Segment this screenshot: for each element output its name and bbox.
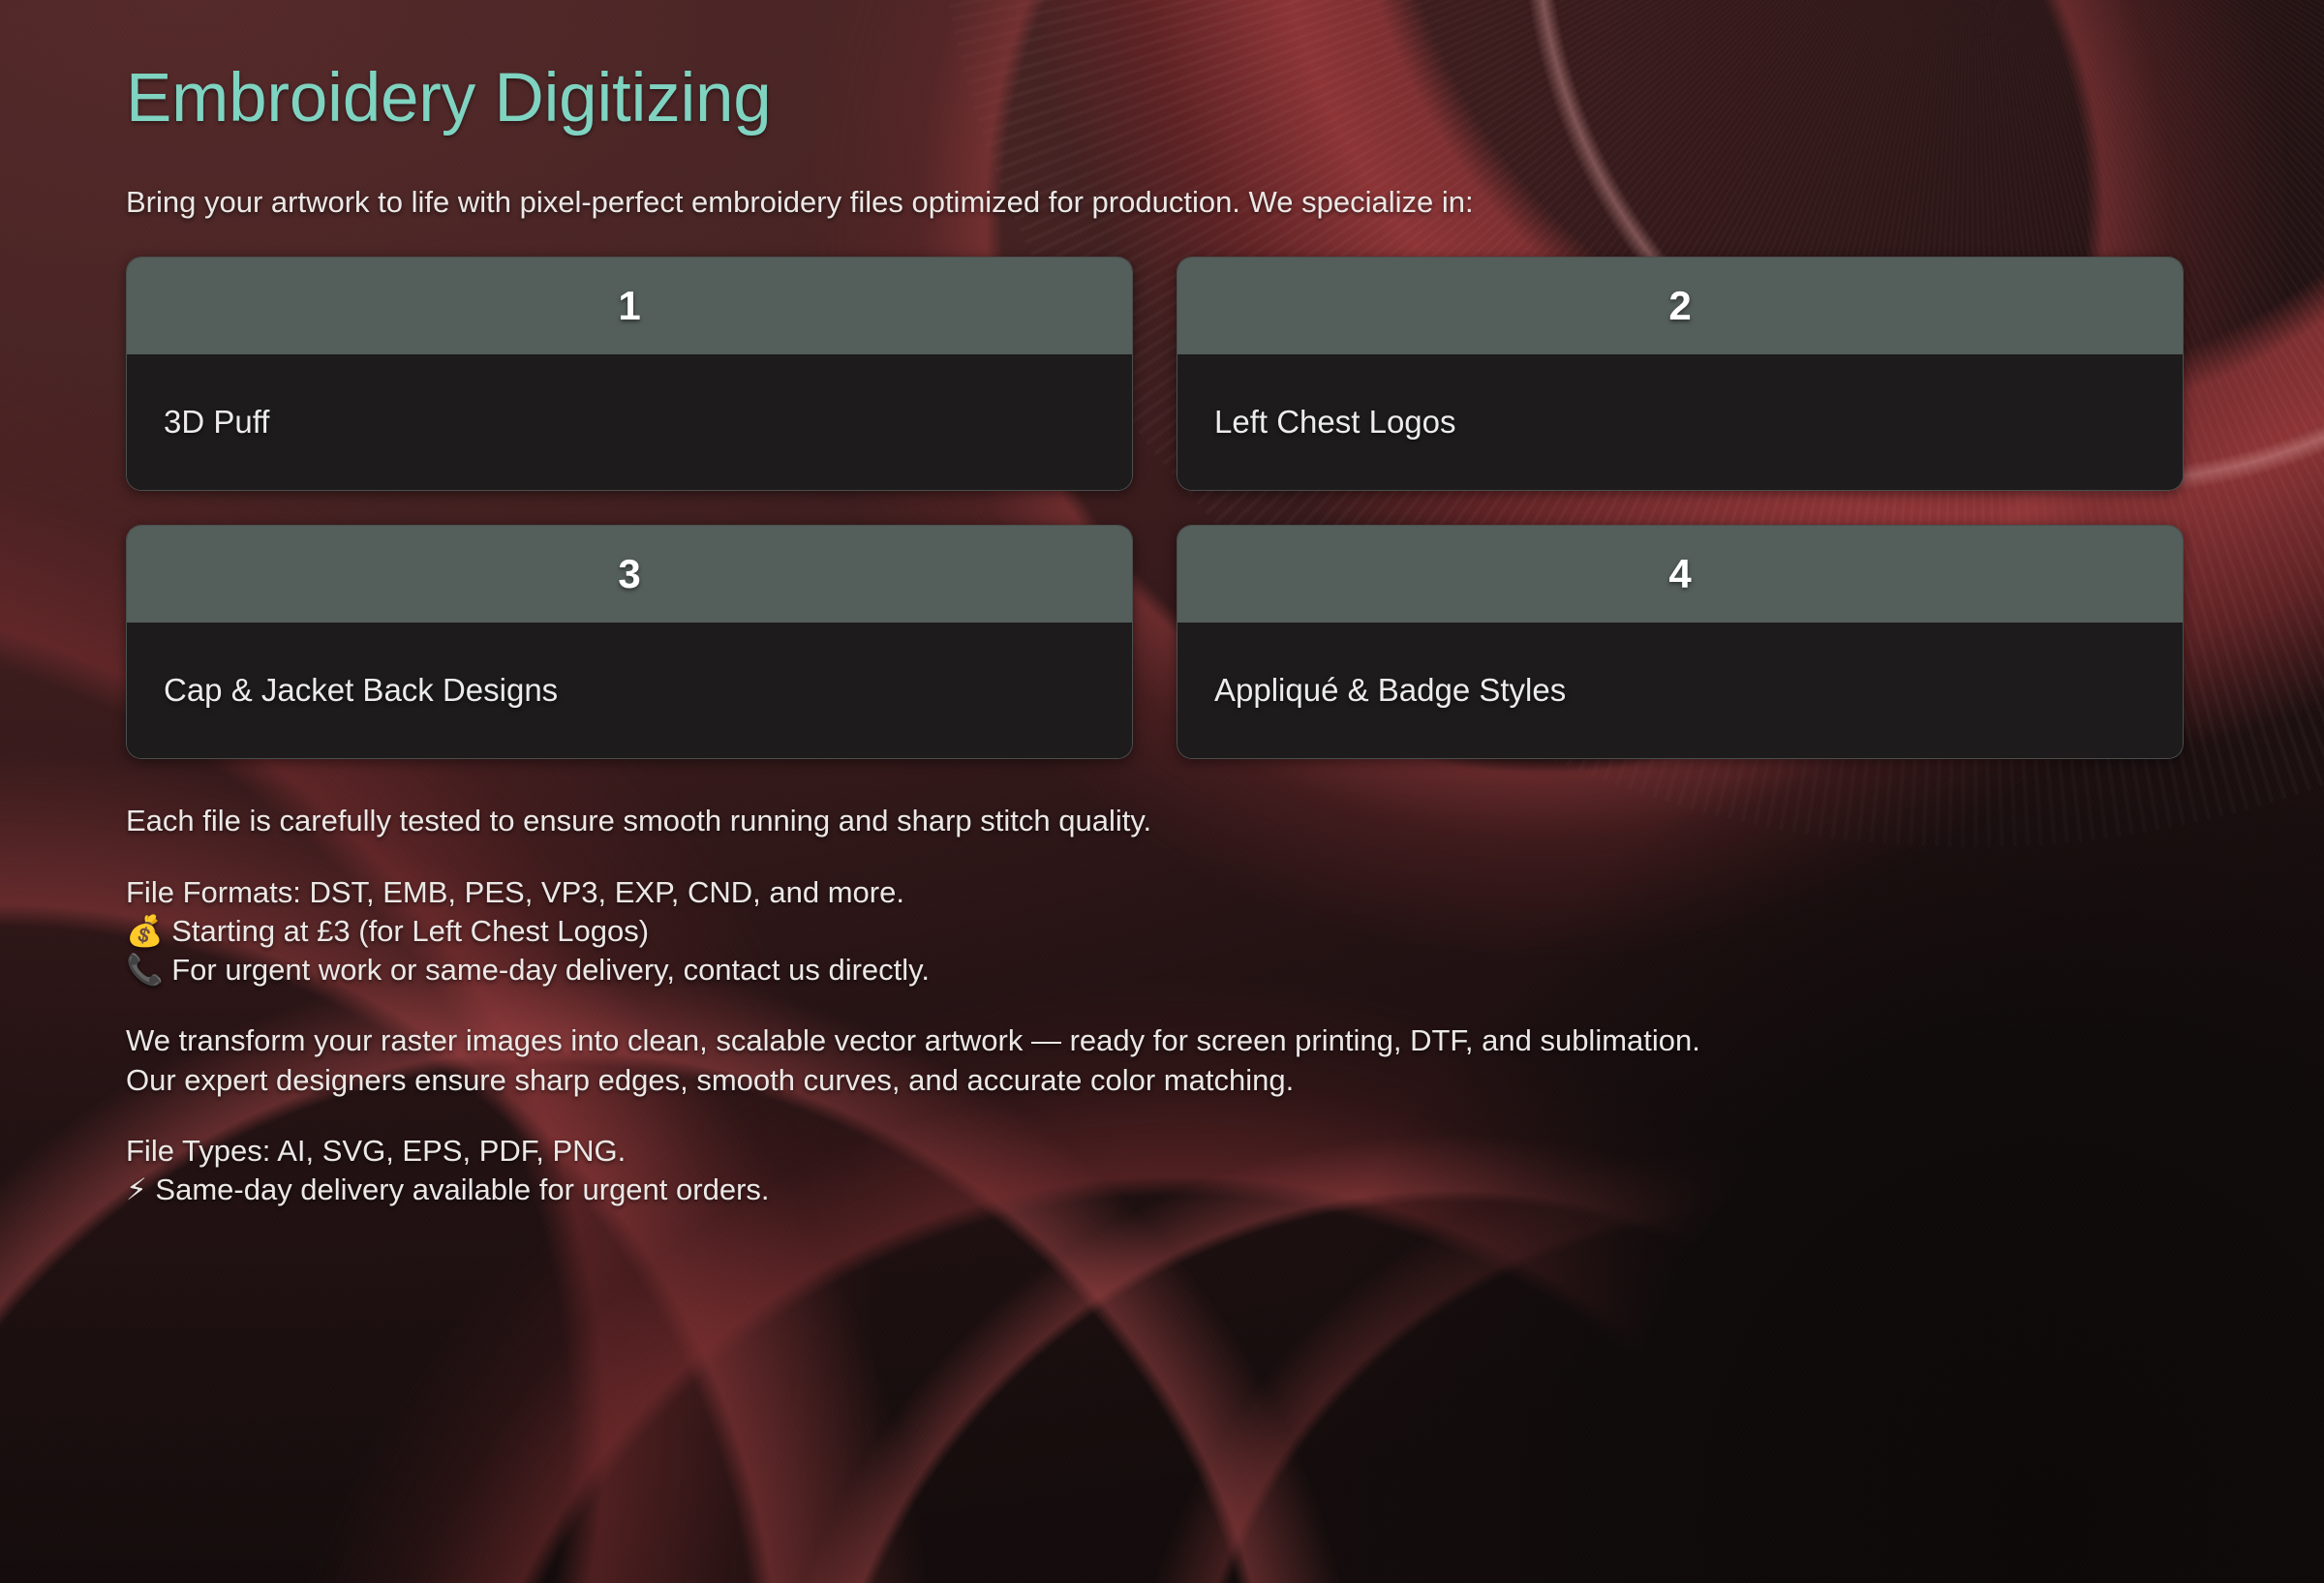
- vector-line-2: Our expert designers ensure sharp edges,…: [126, 1061, 2324, 1100]
- same-day-text: Same-day delivery available for urgent o…: [155, 1172, 769, 1206]
- telephone-icon: 📞: [126, 953, 164, 988]
- card-label-2: Left Chest Logos: [1214, 404, 1456, 441]
- specialty-card-4[interactable]: 4 Appliqué & Badge Styles: [1177, 525, 2184, 759]
- card-body-3: Cap & Jacket Back Designs: [127, 623, 1132, 758]
- card-header-2: 2: [1177, 258, 2183, 354]
- card-number-4: 4: [1668, 554, 1691, 594]
- card-label-4: Appliqué & Badge Styles: [1214, 672, 1566, 709]
- file-formats-paragraph: File Formats: DST, EMB, PES, VP3, EXP, C…: [126, 873, 2324, 990]
- pricing-line: 💰 Starting at £3 (for Left Chest Logos): [126, 912, 2324, 951]
- card-header-4: 4: [1177, 526, 2183, 623]
- card-body-1: 3D Puff: [127, 354, 1132, 490]
- specialty-card-grid: 1 3D Puff 2 Left Chest Logos 3 Cap & Jac…: [126, 257, 2184, 759]
- card-number-3: 3: [618, 554, 640, 594]
- quality-paragraph: Each file is carefully tested to ensure …: [126, 802, 2324, 840]
- card-header-3: 3: [127, 526, 1132, 623]
- card-number-1: 1: [618, 286, 640, 326]
- specialty-card-3[interactable]: 3 Cap & Jacket Back Designs: [126, 525, 1133, 759]
- card-number-2: 2: [1668, 286, 1691, 326]
- vector-paragraph: We transform your raster images into cle…: [126, 1021, 2324, 1100]
- intro-paragraph: Bring your artwork to life with pixel-pe…: [126, 183, 2324, 222]
- file-types-line: File Types: AI, SVG, EPS, PDF, PNG.: [126, 1132, 2324, 1171]
- vector-line-1: We transform your raster images into cle…: [126, 1021, 2324, 1060]
- pricing-text: Starting at £3 (for Left Chest Logos): [171, 914, 649, 948]
- quality-line: Each file is carefully tested to ensure …: [126, 802, 2324, 840]
- contact-line: 📞 For urgent work or same-day delivery, …: [126, 951, 2324, 989]
- money-bag-icon: 💰: [126, 914, 164, 949]
- file-types-paragraph: File Types: AI, SVG, EPS, PDF, PNG. ⚡ Sa…: [126, 1132, 2324, 1210]
- card-body-4: Appliqué & Badge Styles: [1177, 623, 2183, 758]
- card-label-3: Cap & Jacket Back Designs: [164, 672, 558, 709]
- card-body-2: Left Chest Logos: [1177, 354, 2183, 490]
- card-header-1: 1: [127, 258, 1132, 354]
- page-title: Embroidery Digitizing: [126, 64, 2324, 133]
- specialty-card-2[interactable]: 2 Left Chest Logos: [1177, 257, 2184, 491]
- same-day-line: ⚡ Same-day delivery available for urgent…: [126, 1171, 2324, 1209]
- file-formats-line: File Formats: DST, EMB, PES, VP3, EXP, C…: [126, 873, 2324, 912]
- specialty-card-1[interactable]: 1 3D Puff: [126, 257, 1133, 491]
- contact-text: For urgent work or same-day delivery, co…: [171, 953, 930, 987]
- card-label-1: 3D Puff: [164, 404, 269, 441]
- lightning-bolt-icon: ⚡: [126, 1172, 147, 1207]
- content-area: Embroidery Digitizing Bring your artwork…: [0, 0, 2324, 1583]
